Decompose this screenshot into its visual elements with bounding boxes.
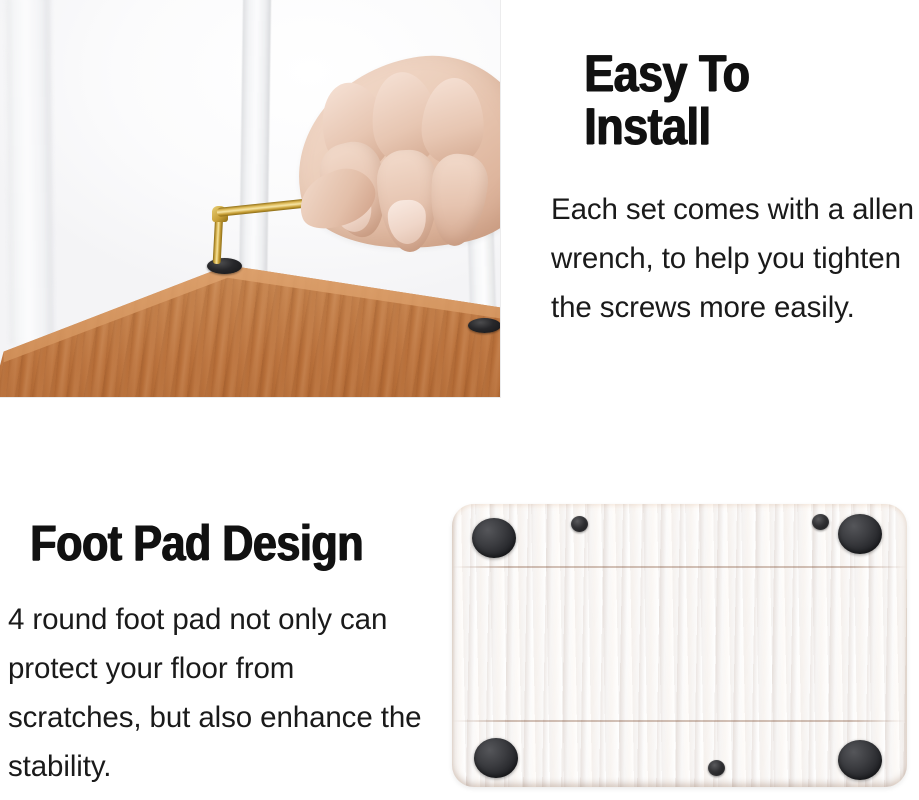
furniture-leg-center bbox=[239, 0, 271, 296]
footpad-body-text: 4 round foot pad not only can protect yo… bbox=[8, 595, 426, 791]
furniture-leg-left bbox=[6, 0, 54, 344]
install-body-text: Each set comes with a allen wrench, to h… bbox=[551, 185, 919, 332]
hand-holding-wrench bbox=[286, 58, 501, 283]
foot-pad-bottom-right bbox=[838, 740, 882, 780]
foot-pad-top-right bbox=[838, 514, 882, 554]
footpad-photo bbox=[440, 492, 919, 800]
screw-top-left-icon bbox=[571, 516, 588, 532]
footpad-heading: Foot Pad Design bbox=[30, 518, 372, 569]
footpad-text-block: Foot Pad Design 4 round foot pad not onl… bbox=[8, 518, 428, 791]
install-text-block: Easy To Install Each set comes with a al… bbox=[551, 48, 917, 332]
install-heading: Easy To Install bbox=[584, 48, 870, 154]
board-seam-bottom bbox=[452, 720, 907, 722]
product-feature-infographic: Easy To Install Each set comes with a al… bbox=[0, 0, 919, 800]
screw-grommet-right-icon bbox=[468, 318, 501, 333]
table-top-underside bbox=[452, 504, 907, 787]
foot-pad-bottom-left bbox=[474, 738, 518, 778]
screw-top-right-icon bbox=[812, 514, 829, 530]
foot-pad-top-left bbox=[472, 518, 516, 558]
board-seam-top bbox=[452, 566, 907, 568]
install-photo bbox=[0, 0, 501, 398]
screw-bottom-center-icon bbox=[708, 760, 725, 776]
